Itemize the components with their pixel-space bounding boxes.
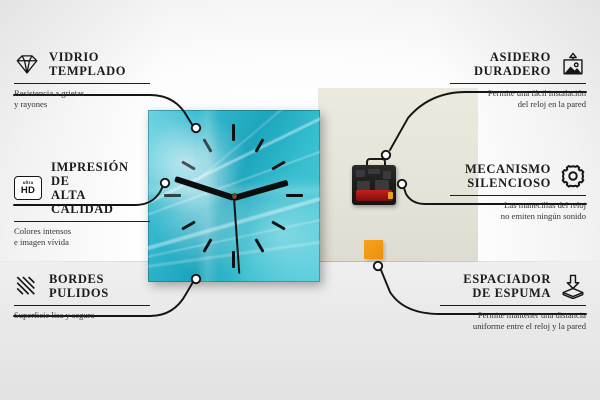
feature-subtitle-line2: no emiten ningún sonido	[450, 211, 586, 222]
feature-subtitle-line1: Permite mantener una distancia	[440, 310, 586, 321]
feature-title-line2: SILENCIOSO	[465, 176, 551, 190]
feature-subtitle-line1: Colores intensos	[14, 226, 150, 237]
feature-divider	[14, 221, 150, 222]
feature-subtitle-line1: Resistencia a grietas	[14, 88, 150, 99]
feature-header: BORDES PULIDOS	[14, 272, 150, 300]
polished-edges-icon	[14, 273, 40, 299]
feature-header: MECANISMO SILENCIOSO	[450, 162, 586, 190]
connector-dot-impresion	[161, 179, 169, 187]
feature-subtitle-line2: e imagen vívida	[14, 237, 150, 248]
connector-dot-espaciador	[374, 262, 382, 270]
feature-vidrio-templado: VIDRIO TEMPLADO Resistencia a grietas y …	[14, 50, 150, 110]
feature-title-line1: ASIDERO	[474, 50, 551, 64]
connector-dot-asidero	[382, 151, 390, 159]
feature-divider	[14, 305, 150, 306]
feature-header: ESPACIADOR DE ESPUMA	[440, 272, 586, 300]
hanging-picture-icon	[560, 51, 586, 77]
feature-divider	[14, 83, 150, 84]
feature-title-line2: PULIDOS	[49, 286, 109, 300]
hd-badge-large-text: HD	[21, 186, 35, 196]
feature-divider	[450, 195, 586, 196]
feature-impresion-alta-calidad: ultra HD IMPRESIÓN DE ALTA CALIDAD Color…	[14, 160, 150, 248]
feature-title-line1: VIDRIO	[49, 50, 126, 64]
feature-title-line1: BORDES	[49, 272, 109, 286]
feature-asidero-duradero: ASIDERO DURADERO Permite una fácil insta…	[450, 50, 586, 110]
feature-subtitle-line2: del reloj en la pared	[450, 99, 586, 110]
feature-espaciador-de-espuma: ESPACIADOR DE ESPUMA Permite mantener un…	[440, 272, 586, 332]
connector-dot-vidrio	[192, 124, 200, 132]
infographic-canvas: VIDRIO TEMPLADO Resistencia a grietas y …	[0, 0, 600, 400]
feature-divider	[450, 83, 586, 84]
feature-title-line1: ESPACIADOR	[463, 272, 551, 286]
feature-title-line1: IMPRESIÓN DE	[51, 160, 150, 188]
feature-divider	[440, 305, 586, 306]
feature-header: VIDRIO TEMPLADO	[14, 50, 150, 78]
diamond-icon	[14, 51, 40, 77]
feature-title-line2: DE ESPUMA	[463, 286, 551, 300]
feature-title-line2: DURADERO	[474, 64, 551, 78]
feature-subtitle-line2: y rayones	[14, 99, 150, 110]
feature-subtitle-line2: uniforme entre el reloj y la pared	[440, 321, 586, 332]
feature-mecanismo-silencioso: MECANISMO SILENCIOSO Las manecillas del …	[450, 162, 586, 222]
feature-header: ASIDERO DURADERO	[450, 50, 586, 78]
foam-spacer-arrow-icon	[560, 273, 586, 299]
feature-subtitle-line1: Permite una fácil instalación	[450, 88, 586, 99]
gear-icon	[560, 163, 586, 189]
feature-subtitle-line1: Superficie lisa y segura	[14, 310, 150, 321]
feature-subtitle-line1: Las manecillas del reloj	[450, 200, 586, 211]
feature-title-line2: TEMPLADO	[49, 64, 126, 78]
connector-dot-bordes	[192, 275, 200, 283]
feature-header: ultra HD IMPRESIÓN DE ALTA CALIDAD	[14, 160, 150, 216]
connector-dot-mecanismo	[398, 180, 406, 188]
ultra-hd-badge-icon: ultra HD	[14, 176, 42, 200]
feature-title-line1: MECANISMO	[465, 162, 551, 176]
feature-title-line2: ALTA CALIDAD	[51, 188, 150, 216]
feature-bordes-pulidos: BORDES PULIDOS Superficie lisa y segura	[14, 272, 150, 321]
